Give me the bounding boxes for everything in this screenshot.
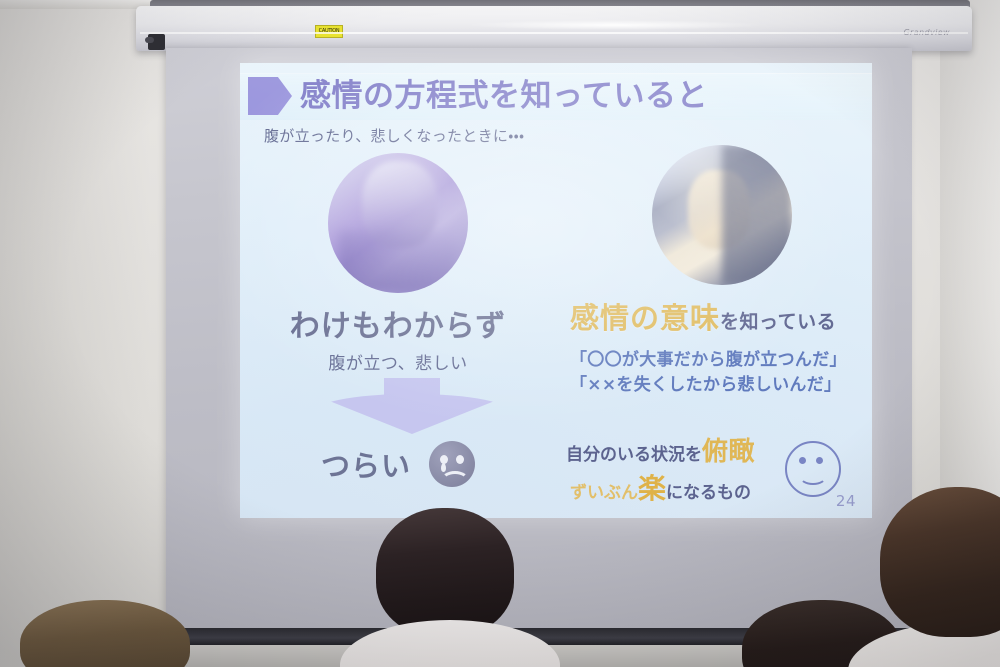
screen-bottom-weight-bar: [160, 628, 920, 646]
smiley-eye-right: [816, 457, 823, 464]
housing-highlight: [466, 20, 766, 30]
right-quote-1: 「〇〇が大事だから腹が立つんだ」: [570, 345, 847, 370]
fukan-line: 自分のいる状況を俯瞰: [566, 431, 755, 468]
photo-scene: CAUTION Grandview 感情の方程式を知っていると 腹が立ったり、悲…: [0, 0, 1000, 667]
frown-mouth: [441, 471, 469, 490]
raku-prefix: ずいぶん: [570, 483, 638, 503]
projected-slide: 感情の方程式を知っていると 腹が立ったり、悲しくなったときに・・・ わけもわから…: [240, 63, 872, 518]
raku-line: ずいぶん楽になるもの: [570, 467, 751, 507]
sad-face-icon: [429, 441, 475, 487]
slide-subtitle: 腹が立ったり、悲しくなったときに・・・: [264, 125, 524, 146]
screen-bar-cap-right: [908, 629, 924, 645]
arrow-shaft: [384, 378, 440, 396]
housing-seam: [140, 32, 968, 34]
right-headline-suffix: を知っている: [720, 311, 836, 333]
wall-shadow: [0, 0, 150, 667]
wall-ledge: [160, 645, 920, 667]
slide-page-number: 24: [836, 492, 856, 510]
tear-icon: [441, 463, 446, 472]
smiley-eye-left: [799, 457, 806, 464]
screen-bar-cap-left: [154, 629, 170, 645]
fukan-prefix: 自分のいる状況を: [566, 445, 702, 465]
smiley-face-icon: [785, 441, 841, 497]
projection-screen-housing[interactable]: CAUTION Grandview: [136, 6, 972, 51]
left-result-row: つらい: [262, 441, 534, 487]
wall-right-edge: [940, 0, 1000, 667]
right-headline: 感情の意味を知っている: [570, 295, 836, 337]
raku-keyword: 楽: [638, 472, 666, 505]
sad-eye-right: [456, 455, 464, 464]
photo-distressed-person: [328, 153, 468, 293]
left-result-label: つらい: [321, 443, 411, 485]
right-quote-2: 「××を失くしたから悲しいんだ」: [570, 370, 841, 395]
slide-title: 感情の方程式を知っていると: [300, 77, 708, 115]
housing-bracket-arm: [145, 37, 154, 43]
raku-suffix: になるもの: [666, 483, 751, 503]
down-arrow-icon: [312, 378, 512, 434]
left-subtext: 腹が立つ、悲しい: [262, 349, 534, 374]
right-headline-keyword: 感情の意味: [570, 301, 720, 335]
arrow-head: [312, 394, 512, 434]
photo-calm-businessman: [652, 145, 792, 285]
photo-haze: [328, 153, 468, 293]
smile-mouth: [799, 467, 827, 485]
left-headline: わけもわからず: [262, 301, 534, 345]
fukan-keyword: 俯瞰: [702, 437, 755, 467]
photo-haze: [652, 145, 792, 285]
